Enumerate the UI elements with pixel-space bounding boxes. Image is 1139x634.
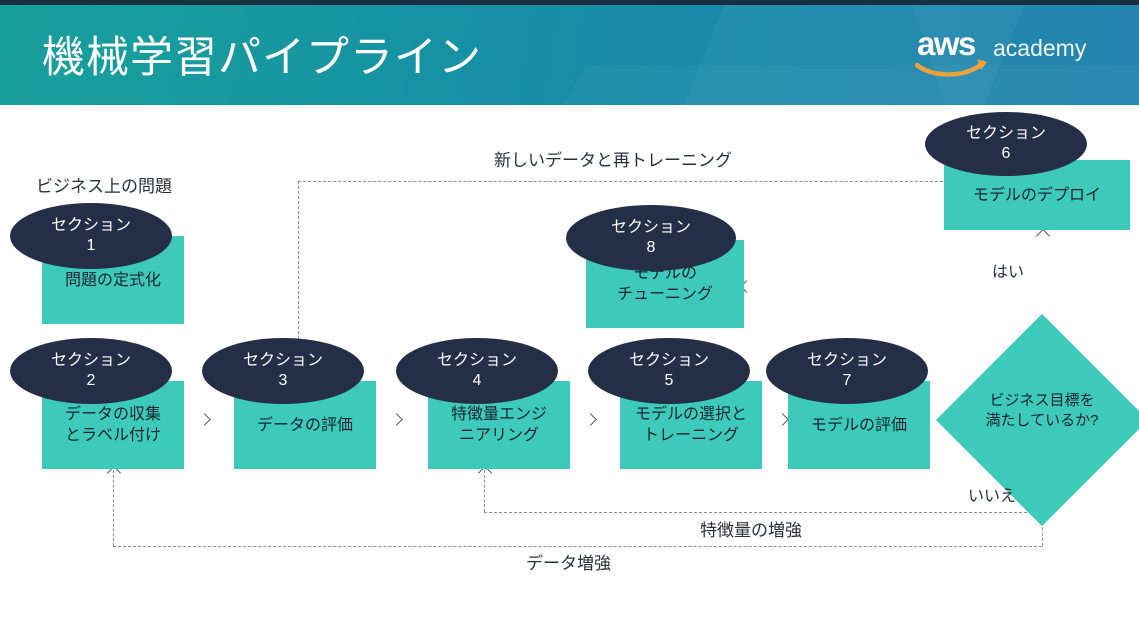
section-number-7: 7 [807, 371, 887, 391]
node-badge-section-1[interactable]: セクション 1 [10, 203, 172, 269]
node-label-section-7: モデルの評価 [792, 415, 926, 436]
section-number-6: 6 [966, 144, 1046, 164]
aws-wordmark: aws [917, 27, 975, 61]
node-label-section-6: モデルのデプロイ [948, 185, 1126, 206]
feature-aug-dashed-horizontal [484, 512, 1042, 513]
data-aug-dashed-horizontal [113, 546, 1042, 547]
section-number-5: 5 [629, 371, 709, 391]
section-word-6: セクション [966, 124, 1046, 144]
section-word-8: セクション [611, 218, 691, 238]
section-word-4: セクション [437, 351, 517, 371]
retrain-dashed-down [298, 181, 299, 349]
node-label-section-8-line2: チューニング [617, 284, 713, 305]
node-label-section-2-line2: とラベル付け [65, 425, 161, 446]
note-data-augmentation: データ増強 [526, 549, 611, 574]
section-number-2: 2 [51, 371, 131, 391]
arrowhead-s4-s5 [584, 413, 597, 426]
section-number-4: 4 [437, 371, 517, 391]
node-label-section-2-line1: データの収集 [65, 404, 161, 425]
node-badge-section-3[interactable]: セクション 3 [202, 338, 364, 404]
section-number-8: 8 [611, 238, 691, 258]
connector-decision-to-deploy [0, 177, 1, 319]
connector-s7-to-s8-vertical [0, 112, 1, 176]
node-badge-section-5[interactable]: セクション 5 [588, 338, 750, 404]
edge-label-yes: はい [992, 258, 1024, 282]
node-label-section-1: 問題の定式化 [46, 270, 180, 291]
section-number-1: 1 [51, 236, 131, 256]
page-title: 機械学習パイプライン [42, 23, 482, 85]
data-aug-dashed-up [113, 470, 114, 546]
note-business-problem: ビジネス上の問題 [36, 172, 172, 197]
node-badge-section-8[interactable]: セクション 8 [566, 205, 736, 271]
node-label-section-5-line2: トレーニング [643, 425, 739, 446]
section-word-1: セクション [51, 216, 131, 236]
node-label-section-3: データの評価 [238, 415, 372, 436]
aws-smile-arrow-icon [915, 57, 991, 79]
arrowhead-s3-s4 [390, 413, 403, 426]
note-feature-augmentation: 特徴量の増強 [700, 516, 802, 541]
slide-header: 機械学習パイプライン aws academy [0, 5, 1139, 105]
retrain-dashed-top [298, 181, 958, 182]
node-badge-section-2[interactable]: セクション 2 [10, 338, 172, 404]
note-retrain: 新しいデータと再トレーニング [494, 146, 732, 171]
node-label-section-4-line1: 特徴量エンジ [451, 404, 547, 425]
node-label-section-4-line2: ニアリング [459, 425, 539, 446]
node-badge-section-7[interactable]: セクション 7 [766, 338, 928, 404]
academy-wordmark: academy [993, 35, 1086, 61]
node-badge-section-4[interactable]: セクション 4 [396, 338, 558, 404]
aws-academy-logo: aws academy [899, 27, 1099, 83]
section-word-3: セクション [243, 351, 323, 371]
section-word-2: セクション [51, 351, 131, 371]
section-word-7: セクション [807, 351, 887, 371]
arrowhead-decision-deploy [1036, 229, 1050, 243]
node-badge-section-6[interactable]: セクション 6 [925, 112, 1087, 176]
arrowhead-s5-s7 [776, 413, 789, 426]
slide-canvas: 機械学習パイプライン aws academy [0, 0, 1139, 634]
decision-label: ビジネス目標を満たしているか? [983, 391, 1101, 431]
node-label-section-5-line1: モデルの選択と [635, 404, 747, 425]
section-word-5: セクション [629, 351, 709, 371]
arrowhead-s2-s3 [198, 413, 211, 426]
edge-label-no: いいえ [968, 482, 1016, 506]
section-number-3: 3 [243, 371, 323, 391]
